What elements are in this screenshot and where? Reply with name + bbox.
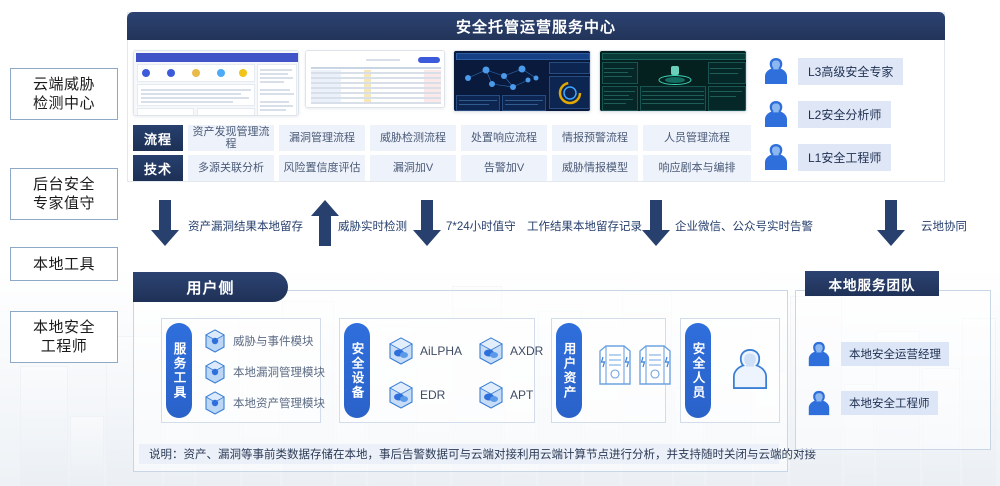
- process-row: 流程 资产发现管理流程 漏洞管理流程 威胁检测流程 处置响应流程 情报预警流程 …: [133, 125, 751, 151]
- user-panel-note: 说明：资产、漏洞等事前类数据存储在本地，事后告警数据可与云端对接利用云端计算节点…: [139, 444, 779, 464]
- role-label: L1安全工程师: [798, 144, 891, 171]
- tech-cell-alert-verification[interactable]: 告警加V: [461, 155, 547, 181]
- role-label: L2安全分析师: [798, 101, 891, 128]
- spine-label: 云端威胁 检测中心: [33, 75, 95, 113]
- spine-label: 后台安全 专家值守: [33, 175, 95, 213]
- screenshot-vulnerability-table-dashboard[interactable]: [305, 50, 445, 108]
- group-user-assets[interactable]: 用户资产: [551, 318, 666, 423]
- screenshot-threat-intelligence-dashboard[interactable]: [599, 50, 747, 112]
- tech-cell-vuln-verification[interactable]: 漏洞加V: [370, 155, 456, 181]
- device-ailpha[interactable]: AiLPHA: [388, 337, 462, 365]
- person-icon: [806, 340, 832, 368]
- panel-title-user-side: 用户侧: [133, 272, 288, 302]
- process-cell-intel-warning[interactable]: 情报预警流程: [552, 125, 638, 151]
- cube-icon: [204, 360, 226, 384]
- cloud-cube-icon: [478, 337, 504, 365]
- cloud-cube-icon: [388, 337, 414, 365]
- arrow-down-wechat-alert: [641, 200, 671, 248]
- group-tab-label: 服务工具: [166, 323, 192, 418]
- spine-label: 本地安全 工程师: [33, 318, 95, 356]
- member-local-security-ops-manager[interactable]: 本地安全运营经理: [806, 340, 949, 368]
- person-icon: [762, 56, 790, 86]
- group-security-personnel[interactable]: 安全人员: [680, 318, 780, 423]
- local-service-team-panel: [795, 290, 991, 450]
- process-cell-personnel-management[interactable]: 人员管理流程: [643, 125, 751, 151]
- process-cell-threat-detection[interactable]: 威胁检测流程: [370, 125, 456, 151]
- person-icon: [729, 347, 771, 391]
- process-cell-response-handling[interactable]: 处置响应流程: [461, 125, 547, 151]
- process-cell-asset-discovery[interactable]: 资产发现管理流程: [188, 125, 274, 151]
- device-label: APT: [510, 388, 533, 402]
- flow-label-realtime-threat-detection: 威胁实时检测: [338, 218, 407, 234]
- module-label: 本地漏洞管理模块: [233, 364, 325, 380]
- arrow-down-7x24-duty: [412, 200, 442, 248]
- panel-title-text: 安全托管运营服务中心: [456, 16, 616, 37]
- module-label: 本地资产管理模块: [233, 395, 325, 411]
- technology-row-key: 技术: [133, 155, 183, 181]
- device-axdr[interactable]: AXDR: [478, 337, 543, 365]
- cloud-cube-icon: [478, 381, 504, 409]
- cube-icon: [204, 329, 226, 353]
- spine-local-security-engineer: 本地安全 工程师: [10, 311, 118, 363]
- tech-cell-risk-confidence[interactable]: 风险置信度评估: [279, 155, 365, 181]
- person-icon: [806, 389, 832, 417]
- tech-cell-threat-intel-model[interactable]: 威胁情报模型: [552, 155, 638, 181]
- device-apt[interactable]: APT: [478, 381, 533, 409]
- process-row-key: 流程: [133, 125, 183, 151]
- technology-row: 技术 多源关联分析 风险置信度评估 漏洞加V 告警加V 威胁情报模型 响应剧本与…: [133, 155, 751, 181]
- role-l2-security-analyst[interactable]: L2安全分析师: [762, 99, 891, 129]
- device-label: AiLPHA: [420, 344, 462, 358]
- spine-label: 本地工具: [33, 255, 95, 274]
- panel-title-managed-service: 安全托管运营服务中心: [127, 12, 945, 40]
- module-threat-event[interactable]: 威胁与事件模块: [204, 329, 314, 353]
- role-label: L3高级安全专家: [798, 58, 903, 85]
- group-service-tools[interactable]: 服务工具 威胁与事件模块 本地漏洞管理模块: [161, 318, 321, 423]
- flow-label-7x24-duty: 7*24小时值守: [446, 218, 516, 234]
- device-label: AXDR: [510, 344, 543, 358]
- module-local-vuln-management[interactable]: 本地漏洞管理模块: [204, 360, 325, 384]
- diagram-root: 云端威胁 检测中心 后台安全 专家值守 本地工具 本地安全 工程师 安全托管运营…: [0, 0, 1000, 486]
- spine-local-tools: 本地工具: [10, 247, 118, 281]
- server-rack-icon: [596, 341, 636, 389]
- device-label: EDR: [420, 388, 445, 402]
- flow-label-cloud-ground-collaboration: 云地协同: [921, 218, 967, 234]
- role-l1-security-engineer[interactable]: L1安全工程师: [762, 142, 891, 172]
- group-security-devices[interactable]: 安全设备 AiLPHA AXDR: [339, 318, 535, 423]
- cube-icon: [204, 391, 226, 415]
- screenshot-asset-discovery-dashboard[interactable]: [133, 50, 299, 116]
- panel-title-text: 本地服务团队: [829, 274, 916, 294]
- person-icon: [762, 142, 790, 172]
- role-l3-senior-security-expert[interactable]: L3高级安全专家: [762, 56, 903, 86]
- spine-cloud-threat-detection-center: 云端威胁 检测中心: [10, 68, 118, 120]
- member-label: 本地安全工程师: [841, 391, 938, 415]
- flow-label-asset-vuln-local-retention: 资产漏洞结果本地留存: [188, 218, 303, 234]
- spine-backend-security-expert-duty: 后台安全 专家值守: [10, 168, 118, 220]
- module-label: 威胁与事件模块: [233, 333, 314, 349]
- arrow-up-realtime-threat-detection: [310, 200, 340, 248]
- person-icon: [762, 99, 790, 129]
- tech-cell-multisource-correlation[interactable]: 多源关联分析: [188, 155, 274, 181]
- group-tab-label: 安全人员: [685, 323, 711, 418]
- arrow-down-cloud-ground-collab: [876, 200, 906, 248]
- panel-title-local-service-team: 本地服务团队: [805, 271, 939, 296]
- flow-label-wechat-realtime-alert: 企业微信、公众号实时告警: [675, 218, 813, 234]
- arrow-down-asset-vuln: [150, 200, 180, 248]
- cloud-cube-icon: [388, 381, 414, 409]
- device-edr[interactable]: EDR: [388, 381, 445, 409]
- module-local-asset-management[interactable]: 本地资产管理模块: [204, 391, 325, 415]
- process-cell-vuln-management[interactable]: 漏洞管理流程: [279, 125, 365, 151]
- group-tab-label: 用户资产: [556, 323, 582, 418]
- member-label: 本地安全运营经理: [841, 342, 949, 366]
- group-tab-label: 安全设备: [344, 323, 370, 418]
- server-rack-icon: [636, 341, 676, 389]
- screenshot-situation-awareness-dashboard[interactable]: [453, 50, 591, 112]
- member-local-security-engineer[interactable]: 本地安全工程师: [806, 389, 938, 417]
- panel-title-text: 用户侧: [186, 277, 234, 298]
- tech-cell-response-playbook[interactable]: 响应剧本与编排: [643, 155, 751, 181]
- flow-label-work-result-local-record: 工作结果本地留存记录: [527, 218, 642, 234]
